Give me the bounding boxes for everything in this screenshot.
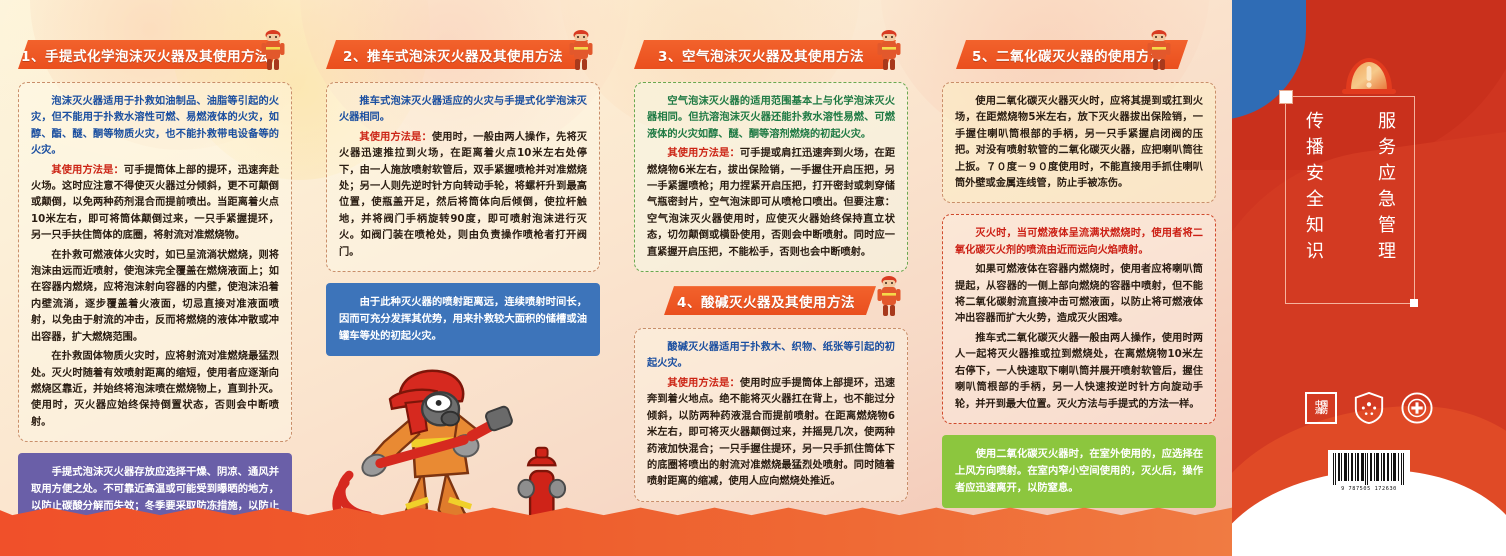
firefighter-mascot-icon [258, 26, 288, 72]
paragraph-lead: 其使用方法是： [359, 132, 431, 143]
poster-root: 1、手提式化学泡沫灭火器及其使用方法 泡沫灭火器适用于扑救如油制品、油脂等引起的… [0, 0, 1506, 556]
seal-circle-emblem [1401, 392, 1433, 424]
callout-box: 由于此种灭火器的喷射距离远，连续喷射时间长，因而可充分发挥其优势，用来扑救较大面… [326, 283, 600, 356]
section-title: 3、空气泡沫灭火器及其使用方法 [658, 45, 864, 65]
section-ribbon: 4、酸碱灭火器及其使用方法 [664, 286, 876, 315]
cover-panel: 服务应急管理 传播安全知识 中国消防 [1232, 0, 1506, 556]
firefighter-mascot-icon [874, 26, 904, 72]
section-ribbon: 2、推车式泡沫灭火器及其使用方法 [326, 40, 588, 69]
fire-helmet-icon [1340, 56, 1398, 96]
paragraph-body: 可手提或肩扛迅速奔到火场，在距燃烧物6米左右，拔出保险销，一手握住开启压把，另一… [647, 148, 895, 257]
paragraph: 推车式二氧化碳灭火器一般由两人操作，使用时两人一起将灭火器推或拉到燃烧处，在离燃… [955, 331, 1203, 413]
section-ribbon: 1、手提式化学泡沫灭火器及其使用方法 [18, 40, 280, 69]
seal-square-stamp: 中国消防 [1305, 392, 1337, 424]
slogan-char: 识 [1306, 243, 1324, 261]
slogan-char: 理 [1378, 243, 1396, 261]
paragraph: 酸碱灭火器适用于扑救木、织物、纸张等引起的初起火灾。 [647, 340, 895, 373]
column-2: 2、推车式泡沫灭火器及其使用方法 推车式泡沫灭火器适应的火灾与手提式化学泡沫灭火… [308, 0, 616, 556]
firefighter-mascot-icon [1144, 26, 1174, 72]
column-3: 3、空气泡沫灭火器及其使用方法 空气泡沫灭火器的适用范围基本上与化学泡沫灭火器相… [616, 0, 924, 556]
section-header-2: 2、推车式泡沫灭火器及其使用方法 [326, 40, 600, 70]
section-header-4: 4、酸碱灭火器及其使用方法 [634, 286, 908, 316]
slogan-char: 应 [1378, 165, 1396, 183]
paragraph-lead: 其使用方法是： [51, 165, 123, 176]
content-card: 使用二氧化碳灭火器灭火时，应将其提到或扛到火场，在距燃烧物5米左右，放下灭火器拔… [942, 82, 1216, 203]
section-title: 2、推车式泡沫灭火器及其使用方法 [343, 45, 563, 65]
section-title: 1、手提式化学泡沫灭火器及其使用方法 [21, 45, 269, 65]
slogan-char: 全 [1306, 191, 1324, 209]
paragraph-body: 使用时，一般由两人操作，先将灭火器迅速推拉到火场，在距离着火点10米左右处停下，… [339, 132, 587, 258]
content-card: 酸碱灭火器适用于扑救木、织物、纸张等引起的初起火灾。 其使用方法是：使用时应手提… [634, 328, 908, 502]
content-columns: 1、手提式化学泡沫灭火器及其使用方法 泡沫灭火器适用于扑救如油制品、油脂等引起的… [0, 0, 1232, 556]
barcode: 9 787505 172630 [1328, 450, 1410, 496]
paragraph: 其使用方法是：可手提筒体上部的提环，迅速奔赴火场。这时应注意不得使灭火器过分倾斜… [31, 163, 279, 245]
content-card: 空气泡沫灭火器的适用范围基本上与化学泡沫灭火器相同。但抗溶泡沫灭火器还能扑救水溶… [634, 82, 908, 272]
paragraph: 其使用方法是：可手提或肩扛迅速奔到火场，在距燃烧物6米左右，拔出保险销，一手握住… [647, 146, 895, 261]
section-header-5: 5、二氧化碳灭火器的使用方法 [942, 40, 1216, 70]
firefighter-mascot-icon [566, 26, 596, 72]
slogan-char: 传 [1306, 113, 1324, 131]
section-title: 5、二氧化碳灭火器的使用方法 [972, 45, 1164, 65]
section-title: 4、酸碱灭火器及其使用方法 [677, 291, 855, 311]
publisher-seals: 中国消防 [1305, 392, 1433, 424]
paragraph-body: 使用时应手提筒体上部提环，迅速奔到着火地点。绝不能将灭火器扛在背上，也不能过分倾… [647, 378, 895, 487]
paragraph: 灭火时，当可燃液体呈流满状燃烧时，使用者将二氧化碳灭火剂的喷流由近而远向火焰喷射… [955, 226, 1203, 259]
slogan-char: 急 [1378, 191, 1396, 209]
barcode-bars [1332, 453, 1406, 485]
column-4: 5、二氧化碳灭火器的使用方法 使用二氧化碳灭火器灭火时，应将其提到或扛到火场，在… [924, 0, 1232, 556]
frame-corner-dot [1410, 299, 1418, 307]
paragraph: 推车式泡沫灭火器适应的火灾与手提式化学泡沫灭火器相同。 [339, 94, 587, 127]
content-card: 灭火时，当可燃液体呈流满状燃烧时，使用者将二氧化碳灭火剂的喷流由近而远向火焰喷射… [942, 214, 1216, 423]
cover-text-frame: 服务应急管理 传播安全知识 [1285, 96, 1415, 304]
slogan-char: 服 [1378, 113, 1396, 131]
slogan-char: 务 [1378, 139, 1396, 157]
slogan-char: 知 [1306, 217, 1324, 235]
paragraph: 空气泡沫灭火器的适用范围基本上与化学泡沫灭火器相同。但抗溶泡沫灭火器还能扑救水溶… [647, 94, 895, 143]
slogan-char: 管 [1378, 217, 1396, 235]
paragraph: 其使用方法是：使用时应手提筒体上部提环，迅速奔到着火地点。绝不能将灭火器扛在背上… [647, 376, 895, 491]
paragraph: 在扑救可燃液体火灾时，如已呈流淌状燃烧，则将泡沫由远而近喷射，使泡沫完全覆盖在燃… [31, 248, 279, 346]
content-card: 泡沫灭火器适用于扑救如油制品、油脂等引起的火灾，但不能用于扑救水溶性可燃、易燃液… [18, 82, 292, 442]
cover-slogan-left: 传播安全知识 [1306, 113, 1324, 261]
paragraph: 其使用方法是：使用时，一般由两人操作，先将灭火器迅速推拉到火场，在距离着火点10… [339, 130, 587, 261]
section-header-3: 3、空气泡沫灭火器及其使用方法 [634, 40, 908, 70]
slogan-char: 安 [1306, 165, 1324, 183]
callout-box: 使用二氧化碳灭火器时，在室外使用的，应选择在上风方向喷射。在室内窄小空间使用的，… [942, 435, 1216, 508]
cover-slogan-right: 服务应急管理 [1378, 113, 1396, 261]
firefighter-mascot-icon [874, 272, 904, 318]
section-ribbon: 3、空气泡沫灭火器及其使用方法 [634, 40, 896, 69]
paragraph: 在扑救固体物质火灾时，应将射流对准燃烧最猛烈处。灭火时随着有效喷射距离的缩短，使… [31, 349, 279, 431]
seal-shield-badge [1353, 392, 1385, 424]
paragraph: 如果可燃液体在容器内燃烧时，使用者应将喇叭筒提起，从容器的一侧上部向燃烧的容器中… [955, 262, 1203, 328]
paragraph-lead: 其使用方法是： [667, 378, 739, 389]
slogan-char: 播 [1306, 139, 1324, 157]
paragraph-lead: 其使用方法是： [667, 148, 739, 159]
paragraph: 使用二氧化碳灭火器灭火时，应将其提到或扛到火场，在距燃烧物5米左右，放下灭火器拔… [955, 94, 1203, 192]
column-1: 1、手提式化学泡沫灭火器及其使用方法 泡沫灭火器适用于扑救如油制品、油脂等引起的… [0, 0, 308, 556]
barcode-number: 9 787505 172630 [1332, 486, 1406, 492]
content-card: 推车式泡沫灭火器适应的火灾与手提式化学泡沫灭火器相同。 其使用方法是：使用时，一… [326, 82, 600, 272]
frame-corner-square [1279, 90, 1293, 104]
paragraph-body: 可手提筒体上部的提环，迅速奔赴火场。这时应注意不得使灭火器过分倾斜，更不可颠倒或… [31, 165, 279, 242]
paragraph: 泡沫灭火器适用于扑救如油制品、油脂等引起的火灾，但不能用于扑救水溶性可燃、易燃液… [31, 94, 279, 160]
section-header-1: 1、手提式化学泡沫灭火器及其使用方法 [18, 40, 292, 70]
